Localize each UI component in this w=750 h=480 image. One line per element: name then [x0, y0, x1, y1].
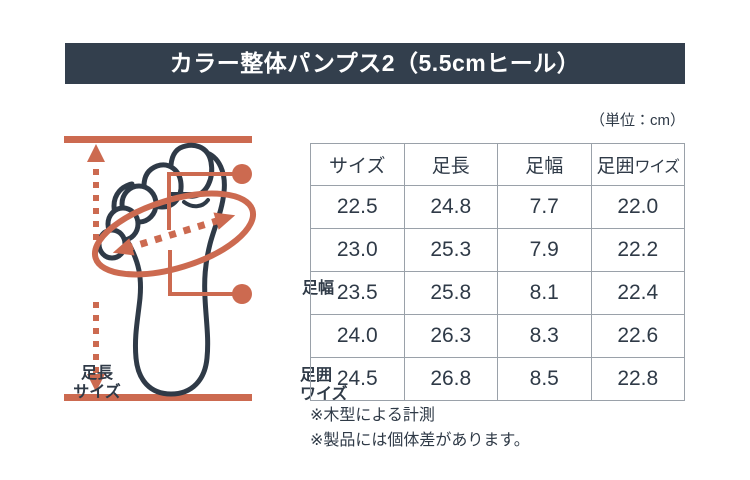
cell-foot-width: 7.9	[498, 229, 592, 272]
cell-foot-width: 8.1	[498, 272, 592, 315]
cell-size: 24.5	[311, 358, 405, 401]
foot-length-label-line1: 足長	[64, 365, 130, 384]
cell-girth: 22.2	[591, 229, 685, 272]
cell-foot-length: 25.3	[404, 229, 498, 272]
cell-foot-width: 7.7	[498, 186, 592, 229]
cell-foot-length: 26.8	[404, 358, 498, 401]
cell-girth: 22.0	[591, 186, 685, 229]
top-reference-bar	[64, 136, 252, 143]
foot-length-label-line2: サイズ	[64, 384, 130, 403]
cell-foot-length: 24.8	[404, 186, 498, 229]
girth-marker-dot	[232, 284, 252, 304]
table-row: 22.5 24.8 7.7 22.0	[311, 186, 685, 229]
cell-foot-width: 8.5	[498, 358, 592, 401]
size-chart-page: カラー整体パンプス2（5.5cmヒール） （単位：cm）	[0, 0, 750, 480]
unit-note: （単位：cm）	[590, 109, 685, 130]
product-title-bar: カラー整体パンプス2（5.5cmヒール）	[65, 43, 685, 84]
column-header-girth: 足囲ワイズ	[591, 144, 685, 186]
column-header-girth-big: 足囲	[596, 156, 634, 177]
table-row: 23.0 25.3 7.9 22.2	[311, 229, 685, 272]
column-header-foot-length: 足長	[404, 144, 498, 186]
table-header-row: サイズ 足長 足幅 足囲ワイズ	[311, 144, 685, 186]
page-title: カラー整体パンプス2（5.5cmヒール）	[170, 52, 580, 75]
cell-foot-width: 8.3	[498, 315, 592, 358]
table-row: 24.5 26.8 8.5 22.8	[311, 358, 685, 401]
cell-size: 23.0	[311, 229, 405, 272]
cell-foot-length: 26.3	[404, 315, 498, 358]
foot-length-arrowhead-top	[87, 144, 105, 162]
cell-size: 23.5	[311, 272, 405, 315]
foot-length-label: 足長 サイズ	[64, 365, 130, 403]
table-row: 24.0 26.3 8.3 22.6	[311, 315, 685, 358]
size-table-body: 22.5 24.8 7.7 22.0 23.0 25.3 7.9 22.2 23…	[311, 186, 685, 401]
table-row: 23.5 25.8 8.1 22.4	[311, 272, 685, 315]
size-table: サイズ 足長 足幅 足囲ワイズ 22.5 24.8 7.7 22.0 23.0 …	[310, 143, 685, 401]
footnote-line: ※製品には個体差があります。	[310, 429, 530, 454]
column-header-foot-width: 足幅	[498, 144, 592, 186]
cell-size: 24.0	[311, 315, 405, 358]
foot-width-marker-dot	[232, 164, 252, 184]
cell-foot-length: 25.8	[404, 272, 498, 315]
cell-size: 22.5	[311, 186, 405, 229]
cell-girth: 22.6	[591, 315, 685, 358]
footnote-line: ※木型による計測	[310, 404, 530, 429]
foot-measurement-diagram: 足長 サイズ 足幅 足囲 ワイズ	[52, 122, 310, 422]
column-header-girth-small: ワイズ	[634, 159, 679, 176]
cell-girth: 22.4	[591, 272, 685, 315]
size-table-head: サイズ 足長 足幅 足囲ワイズ	[311, 144, 685, 186]
cell-girth: 22.8	[591, 358, 685, 401]
column-header-size: サイズ	[311, 144, 405, 186]
footnotes: ※木型による計測 ※製品には個体差があります。	[310, 404, 530, 454]
